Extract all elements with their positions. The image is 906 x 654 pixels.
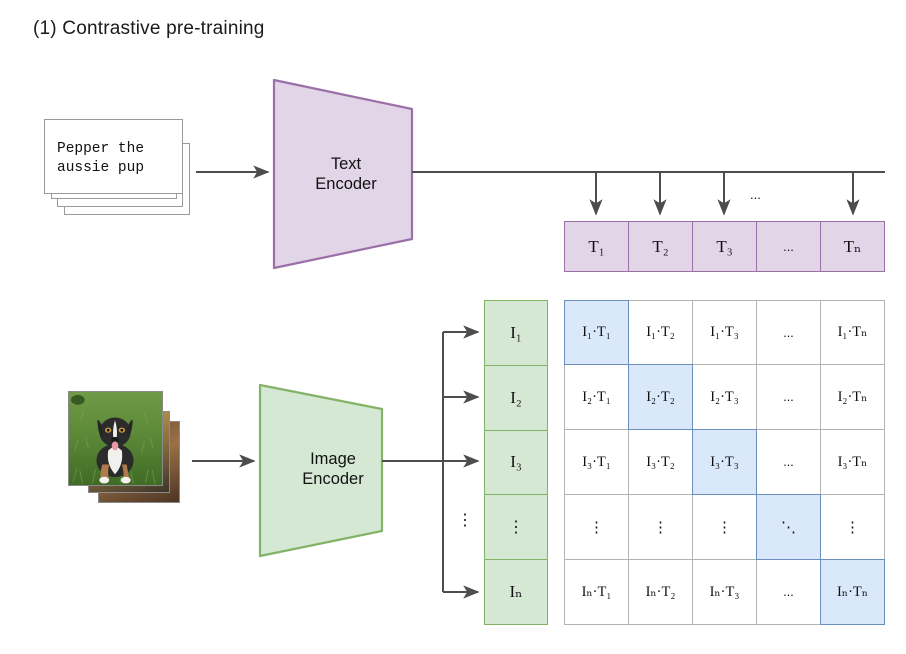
text-card-front: Pepper the aussie pup	[44, 119, 183, 194]
matrix-cell[interactable]: I₂·T₁	[564, 364, 629, 430]
text-encoder-block: Text Encoder	[272, 78, 420, 270]
similarity-matrix: I₁·T₁I₁·T₂I₁·T₃...I₁·TₙI₂·T₁I₂·T₂I₂·T₃..…	[564, 300, 885, 625]
image-embedding-cell-IN[interactable]: Iₙ	[484, 559, 548, 625]
matrix-row: ⋮⋮⋮⋱⋮	[564, 495, 885, 560]
matrix-row: I₃·T₁I₃·T₂I₃·T₃...I₃·Tₙ	[564, 430, 885, 495]
matrix-cell[interactable]: I₂·T₂	[628, 364, 693, 430]
page-title: (1) Contrastive pre-training	[33, 18, 265, 40]
matrix-cell: ⋮	[692, 494, 757, 560]
matrix-cell[interactable]: I₁·T₂	[628, 300, 693, 365]
text-embedding-cell-ellipsis: ...	[756, 221, 821, 272]
image-encoder-block: Image Encoder	[258, 383, 408, 558]
text-embedding-cell-T3[interactable]: T₃	[692, 221, 757, 272]
matrix-cell: ⋮	[564, 494, 629, 560]
matrix-row: Iₙ·T₁Iₙ·T₂Iₙ·T₃...Iₙ·Tₙ	[564, 560, 885, 625]
image-embedding-cell-I2[interactable]: I₂	[484, 365, 548, 431]
matrix-cell: ⋮	[820, 494, 885, 560]
matrix-cell[interactable]: I₃·Tₙ	[820, 429, 885, 495]
matrix-row: I₁·T₁I₁·T₂I₁·T₃...I₁·Tₙ	[564, 300, 885, 365]
image-encoder-label: Image Encoder	[258, 449, 408, 489]
matrix-cell: ⋱	[756, 494, 821, 560]
matrix-cell[interactable]: I₃·T₂	[628, 429, 693, 495]
matrix-cell: ...	[756, 364, 821, 430]
matrix-cell[interactable]: I₃·T₁	[564, 429, 629, 495]
text-encoder-label: Text Encoder	[272, 154, 420, 194]
matrix-cell: ...	[756, 559, 821, 625]
matrix-cell[interactable]: I₁·Tₙ	[820, 300, 885, 365]
matrix-cell[interactable]: I₂·Tₙ	[820, 364, 885, 430]
matrix-cell[interactable]: Iₙ·T₂	[628, 559, 693, 625]
matrix-cell[interactable]: I₃·T₃	[692, 429, 757, 495]
text-input-stack: Pepper the aussie pup	[44, 119, 194, 217]
matrix-cell[interactable]: Iₙ·T₃	[692, 559, 757, 625]
matrix-cell[interactable]: I₁·T₃	[692, 300, 757, 365]
text-caption: Pepper the aussie pup	[57, 140, 175, 178]
diagram-canvas: (1) Contrastive pre-training Pepper the …	[0, 0, 906, 654]
matrix-cell: ⋮	[628, 494, 693, 560]
image-embedding-cell-I3[interactable]: I₃	[484, 430, 548, 496]
text-embedding-cell-T1[interactable]: T₁	[564, 221, 629, 272]
text-bus-ellipsis: ...	[750, 188, 761, 201]
image-embedding-column: I₁ I₂ I₃ ⋮ Iₙ	[484, 300, 548, 625]
image-embedding-cell-ellipsis: ⋮	[484, 494, 548, 560]
image-bus-ellipsis: ⋮	[457, 513, 473, 529]
matrix-cell[interactable]: Iₙ·T₁	[564, 559, 629, 625]
photo-card-front	[68, 391, 163, 486]
matrix-row: I₂·T₁I₂·T₂I₂·T₃...I₂·Tₙ	[564, 365, 885, 430]
image-embedding-cell-I1[interactable]: I₁	[484, 300, 548, 366]
image-input-stack	[68, 391, 190, 509]
matrix-cell: ...	[756, 300, 821, 365]
text-embedding-row: T₁ T₂ T₃ ... Tₙ	[564, 221, 885, 272]
matrix-cell[interactable]: I₂·T₃	[692, 364, 757, 430]
matrix-cell: ...	[756, 429, 821, 495]
matrix-cell[interactable]: I₁·T₁	[564, 300, 629, 365]
text-embedding-cell-TN[interactable]: Tₙ	[820, 221, 885, 272]
text-embedding-cell-T2[interactable]: T₂	[628, 221, 693, 272]
matrix-cell[interactable]: Iₙ·Tₙ	[820, 559, 885, 625]
dog-photo-image	[69, 392, 162, 485]
